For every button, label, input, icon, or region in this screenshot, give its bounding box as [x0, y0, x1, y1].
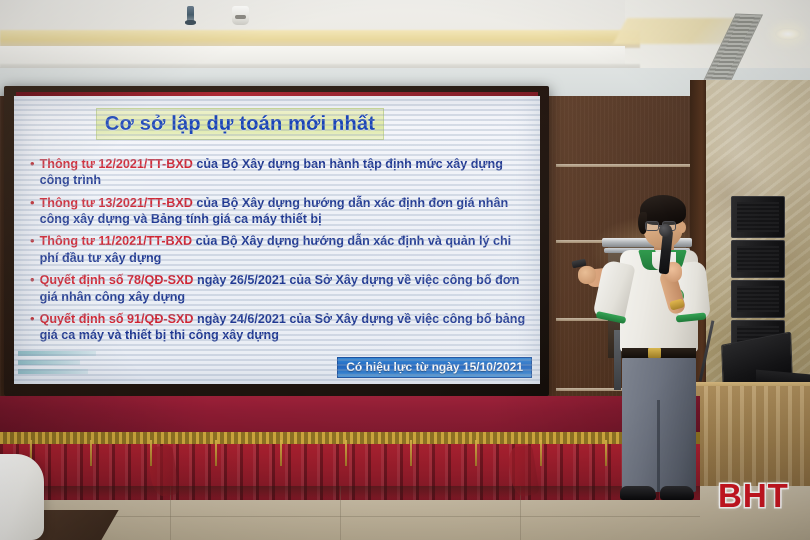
ear: [679, 222, 686, 233]
slide-surface: Cơ sở lập dự toán mới nhất • Thông tư 12…: [14, 96, 540, 384]
fringe-tassel: [215, 440, 217, 466]
bullet-highlight: Thông tư 13/2021/TT-BXD: [40, 196, 193, 210]
foreground-chair: [0, 454, 44, 540]
wood-seam: [556, 164, 706, 167]
fringe-tassel: [150, 440, 152, 466]
list-item: • Thông tư 12/2021/TT-BXD của Bộ Xây dựn…: [30, 156, 530, 189]
fringe-tassel: [540, 440, 542, 466]
fringe-tassel: [410, 440, 412, 466]
stage-platform: [0, 396, 700, 436]
fringe-tassel: [605, 440, 607, 466]
bullet-marker-icon: •: [30, 273, 35, 287]
decor-bar: [18, 369, 88, 374]
shoe-right: [660, 486, 694, 500]
bullet-highlight: Quyết định số 78/QĐ-SXD: [40, 273, 194, 287]
bullet-text: Thông tư 13/2021/TT-BXD của Bộ Xây dựng …: [40, 195, 530, 228]
bullet-text: Quyết định số 78/QĐ-SXD ngày 26/5/2021 c…: [40, 272, 530, 305]
speaker-module: [731, 280, 785, 318]
speaker-module: [731, 240, 785, 278]
ceiling: [0, 0, 810, 100]
list-item: • Thông tư 13/2021/TT-BXD của Bộ Xây dựn…: [30, 195, 530, 228]
belt-buckle-icon: [648, 348, 661, 358]
fringe-tassel: [475, 440, 477, 466]
bullet-marker-icon: •: [30, 312, 35, 326]
bullet-marker-icon: •: [30, 234, 35, 248]
shoe-left: [620, 486, 656, 500]
speaker-module: [731, 196, 785, 238]
smoke-detector-icon: [232, 6, 249, 25]
speaker-grille-icon: [737, 286, 779, 312]
stage-gold-fringe: [0, 432, 700, 444]
speaker-grille-icon: [737, 246, 779, 272]
decor-bar: [18, 351, 96, 356]
glasses-icon: [645, 221, 659, 231]
bullet-highlight: Thông tư 12/2021/TT-BXD: [40, 157, 193, 171]
bullet-text: Quyết định số 91/QĐ-SXD ngày 24/6/2021 c…: [40, 311, 530, 344]
slide-effective-date-badge: Có hiệu lực từ ngày 15/10/2021: [337, 357, 532, 378]
stage-shading: [0, 396, 700, 436]
slide-title-banner: Cơ sở lập dự toán mới nhất: [96, 108, 384, 140]
list-item: • Thông tư 11/2021/TT-BXD của Bộ Xây dựn…: [30, 233, 530, 266]
downlight-icon: [775, 28, 801, 40]
slide-decor-bars: [18, 351, 96, 378]
speaker-grille-icon: [737, 202, 779, 232]
slide-title-text: Cơ sở lập dự toán mới nhất: [105, 113, 375, 136]
slide-bullet-list: • Thông tư 12/2021/TT-BXD của Bộ Xây dựn…: [30, 156, 530, 350]
presentation-slide: Cơ sở lập dự toán mới nhất • Thông tư 12…: [14, 96, 540, 384]
list-item: • Quyết định số 91/QĐ-SXD ngày 24/6/2021…: [30, 311, 530, 344]
right-hand: [578, 266, 596, 284]
bullet-highlight: Quyết định số 91/QĐ-SXD: [40, 312, 194, 326]
sprinkler-icon: [187, 6, 194, 22]
microphone-head-icon: [659, 224, 672, 237]
bullet-marker-icon: •: [30, 157, 35, 171]
trouser-seam: [657, 400, 660, 492]
led-video-wall[interactable]: Cơ sở lập dự toán mới nhất • Thông tư 12…: [4, 86, 549, 396]
bullet-highlight: Thông tư 11/2021/TT-BXD: [40, 234, 193, 248]
fringe-tassel: [280, 440, 282, 466]
conference-presentation-photo: Cơ sở lập dự toán mới nhất • Thông tư 12…: [0, 0, 810, 540]
broadcaster-watermark: BHT: [718, 477, 789, 515]
stage-base-shadow: [0, 486, 700, 498]
bullet-text: Thông tư 11/2021/TT-BXD của Bộ Xây dựng …: [40, 233, 530, 266]
bullet-text: Thông tư 12/2021/TT-BXD của Bộ Xây dựng …: [40, 156, 530, 189]
decor-bar: [18, 360, 80, 365]
fringe-tassel: [90, 440, 92, 466]
bullet-marker-icon: •: [30, 196, 35, 210]
fringe-tassel: [345, 440, 347, 466]
list-item: • Quyết định số 78/QĐ-SXD ngày 26/5/2021…: [30, 272, 530, 305]
